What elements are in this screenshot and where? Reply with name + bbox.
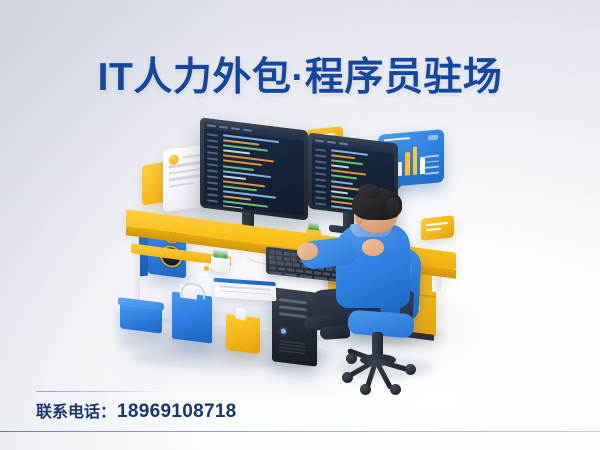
document-card-line xyxy=(169,174,204,182)
chair-caster xyxy=(342,372,353,383)
mini-card-line xyxy=(426,228,441,232)
chart-bars xyxy=(397,144,425,176)
code-line xyxy=(223,165,254,171)
editor-file-tree xyxy=(204,129,221,206)
chair-caster xyxy=(360,384,371,395)
person-hand-right xyxy=(362,239,384,256)
monitor-primary-screen xyxy=(204,122,304,216)
person-hair-bun xyxy=(358,184,380,199)
chair-caster xyxy=(390,384,401,395)
document-card-heading xyxy=(182,154,202,159)
mini-card-line xyxy=(426,222,448,226)
code-line xyxy=(331,154,355,159)
power-led-icon xyxy=(281,328,286,334)
code-line xyxy=(223,206,243,210)
illustration-scene xyxy=(0,100,600,400)
code-line xyxy=(331,190,348,194)
monitor-primary xyxy=(200,117,308,220)
tower-slot xyxy=(279,298,307,304)
code-line xyxy=(331,175,357,180)
plant-desk xyxy=(211,255,230,273)
storage-box xyxy=(120,302,162,333)
chart-card-title xyxy=(384,137,410,142)
page-title: IT人力外包·程序员驻场 xyxy=(0,46,600,102)
storage-box-lid xyxy=(118,297,164,311)
waste-bin xyxy=(226,314,260,354)
code-line xyxy=(223,175,246,180)
chart-bar xyxy=(413,146,418,174)
tower-slot xyxy=(279,305,307,311)
tower-slot xyxy=(279,312,307,318)
document-bag xyxy=(172,292,212,344)
chart-card-tag xyxy=(428,135,438,141)
waste-bin-paper xyxy=(235,308,246,321)
chart-bar xyxy=(405,152,410,175)
editor-code-area xyxy=(223,134,301,213)
tower-vent xyxy=(279,340,305,355)
code-line xyxy=(331,165,349,169)
code-line xyxy=(331,180,353,185)
contact-rule-top xyxy=(36,391,166,392)
chart-legend-lines xyxy=(425,150,439,174)
chair-caster xyxy=(405,364,416,375)
contact-line: 联系电话：18969108718 xyxy=(36,398,237,423)
contact-phone: 18969108718 xyxy=(117,401,237,422)
poster-canvas: IT人力外包·程序员驻场 xyxy=(0,0,600,450)
notepad xyxy=(214,278,277,301)
document-card-line xyxy=(169,182,194,188)
person-shoe xyxy=(320,325,351,340)
document-bag-handle xyxy=(181,282,205,300)
editor-file-tree xyxy=(312,144,329,207)
code-line xyxy=(223,149,250,154)
contact-label: 联系电话： xyxy=(36,404,116,421)
contact-rule-bottom xyxy=(0,431,600,432)
chair-caster xyxy=(346,353,357,364)
yellow-mini-card xyxy=(421,215,454,240)
